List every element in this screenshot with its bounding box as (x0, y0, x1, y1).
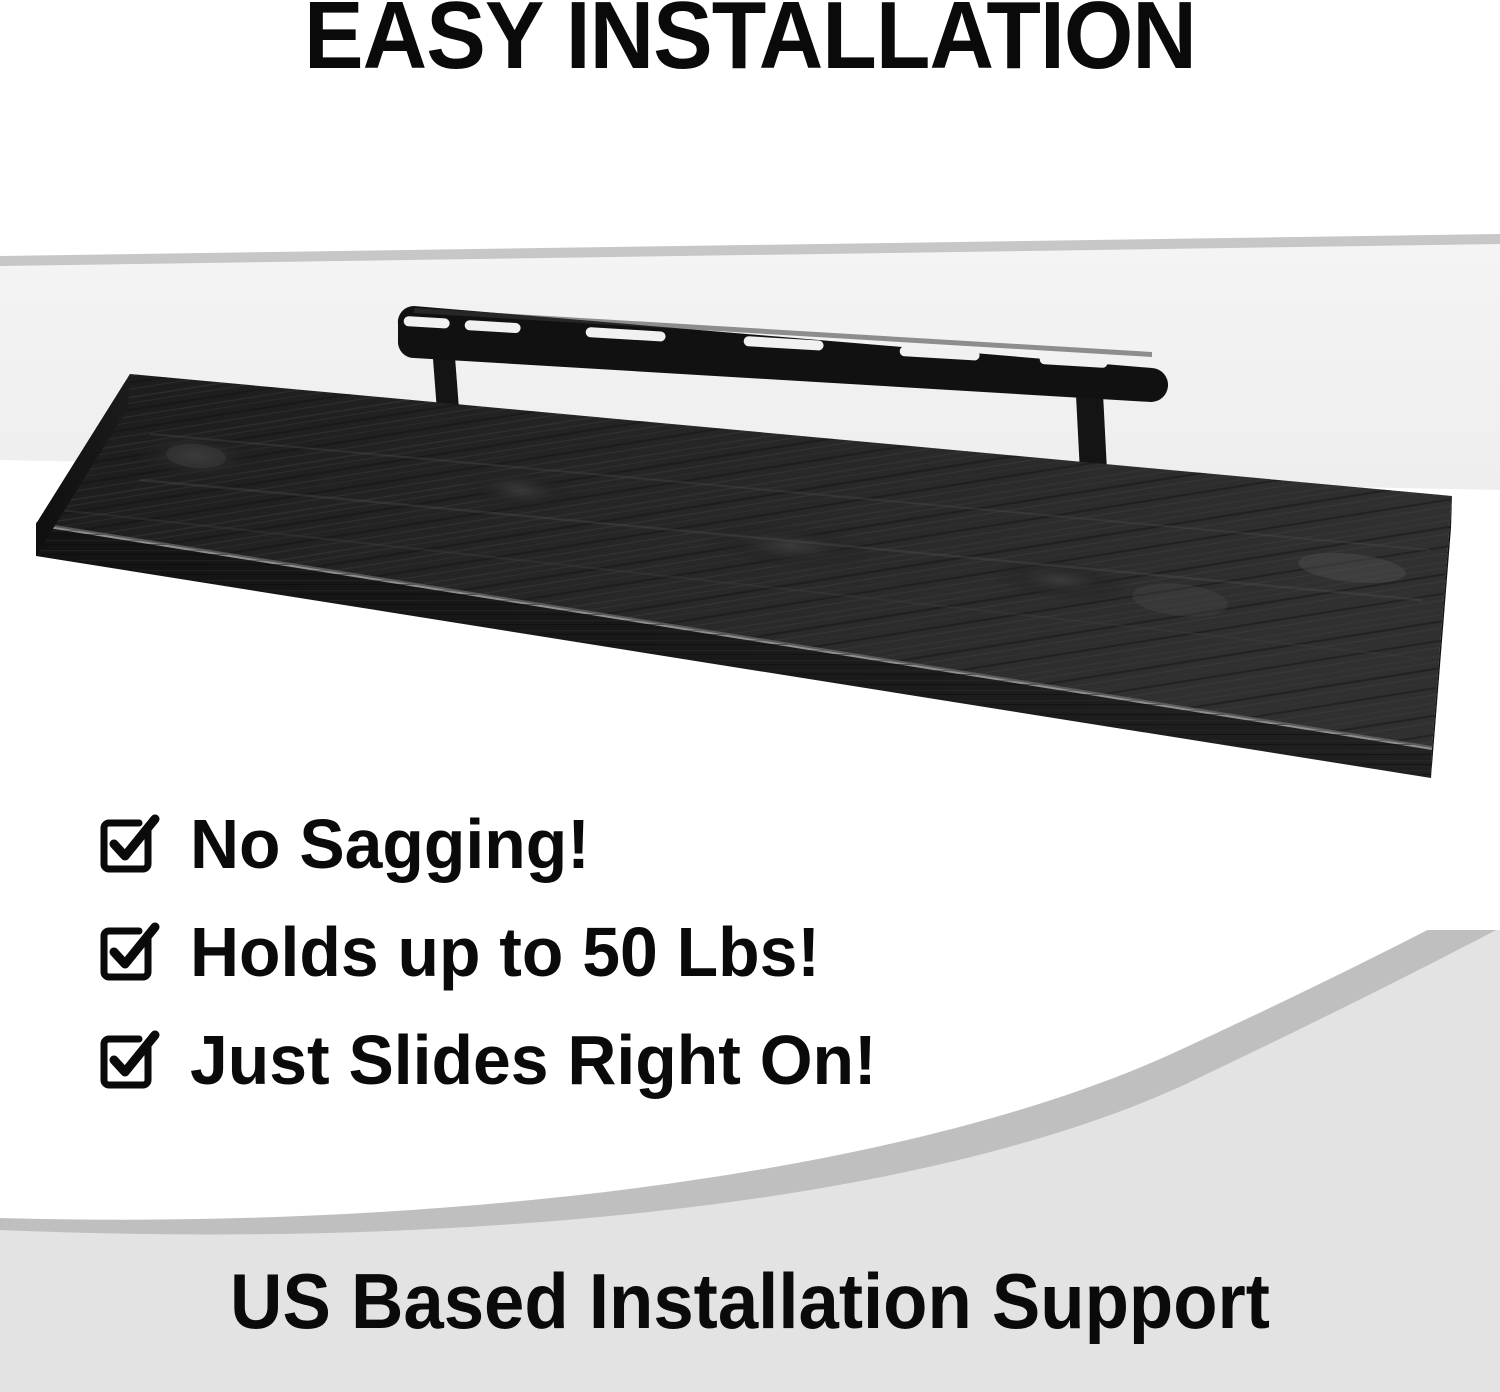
feature-label: No Sagging! (190, 809, 590, 879)
product-marketing-poster: EASY INSTALLATION (0, 0, 1500, 1392)
product-photo (0, 228, 1500, 828)
checkbox-checked-icon (98, 814, 160, 876)
list-item: No Sagging! (98, 790, 998, 898)
page-title: EASY INSTALLATION (53, 0, 1448, 87)
footer-banner-text: US Based Installation Support (53, 1262, 1448, 1340)
product-photo-illustration (0, 228, 1500, 828)
